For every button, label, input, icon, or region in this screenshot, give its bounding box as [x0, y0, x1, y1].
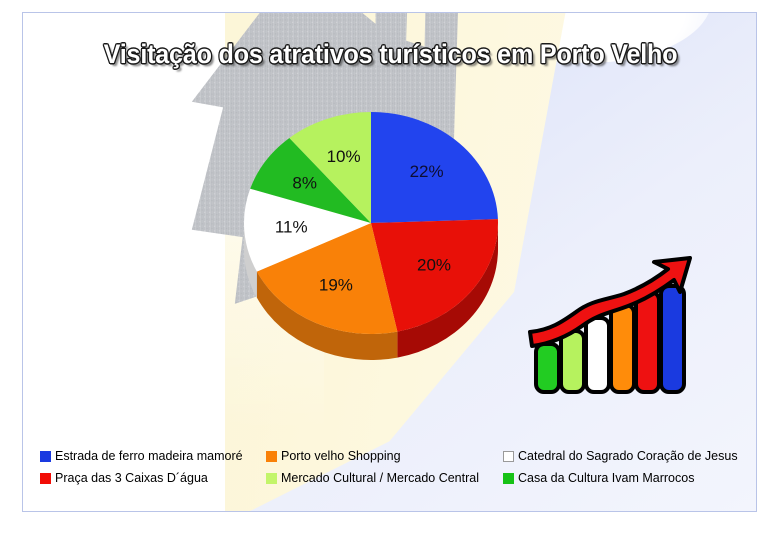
clipart-bar-4 [611, 305, 634, 392]
legend-swatch-icon [266, 451, 277, 462]
legend-label: Porto velho Shopping [281, 450, 401, 463]
growth-bar-chart-clipart [528, 256, 693, 401]
legend-item-catedral-sagrado-coracao[interactable]: Catedral do Sagrado Coração de Jesus [503, 450, 738, 463]
legend-label: Mercado Cultural / Mercado Central [281, 472, 479, 485]
clipart-bar-5 [636, 292, 659, 392]
clipart-bar-6 [661, 286, 684, 392]
legend-swatch-icon [266, 473, 277, 484]
slide-canvas: Visitação dos atrativos turísticos em Po… [0, 0, 780, 551]
legend-item-praca-caixas-dagua[interactable]: Praça das 3 Caixas D´água [40, 472, 208, 485]
slide-frame: Visitação dos atrativos turísticos em Po… [22, 12, 757, 512]
pie-slice-label: 8% [292, 173, 317, 192]
legend-item-casa-da-cultura[interactable]: Casa da Cultura Ivam Marrocos [503, 472, 694, 485]
legend-item-porto-velho-shopping[interactable]: Porto velho Shopping [266, 450, 401, 463]
legend-swatch-icon [40, 473, 51, 484]
pie-slice-label: 11% [275, 217, 308, 236]
legend-swatch-icon [40, 451, 51, 462]
page-title: Visitação dos atrativos turísticos em Po… [49, 39, 733, 70]
legend: Estrada de ferro madeira mamoré Praça da… [23, 431, 757, 479]
legend-label: Estrada de ferro madeira mamoré [55, 450, 243, 463]
clipart-bar-3 [586, 318, 609, 392]
legend-item-mercado-cultural[interactable]: Mercado Cultural / Mercado Central [266, 472, 479, 485]
pie-slice-label: 20% [417, 256, 451, 275]
pie-chart: 22%20%19%11%8%10% [241, 111, 501, 361]
legend-label: Praça das 3 Caixas D´água [55, 472, 208, 485]
pie-slice-label: 19% [319, 275, 353, 294]
clipart-bar-1 [536, 344, 559, 392]
clipart-bar-2 [561, 331, 584, 392]
legend-swatch-icon [503, 473, 514, 484]
pie-slice-label: 10% [327, 147, 361, 166]
legend-item-estrada-de-ferro[interactable]: Estrada de ferro madeira mamoré [40, 450, 243, 463]
legend-label: Catedral do Sagrado Coração de Jesus [518, 450, 738, 463]
legend-label: Casa da Cultura Ivam Marrocos [518, 472, 694, 485]
legend-swatch-icon [503, 451, 514, 462]
pie-slice-label: 22% [410, 162, 444, 181]
